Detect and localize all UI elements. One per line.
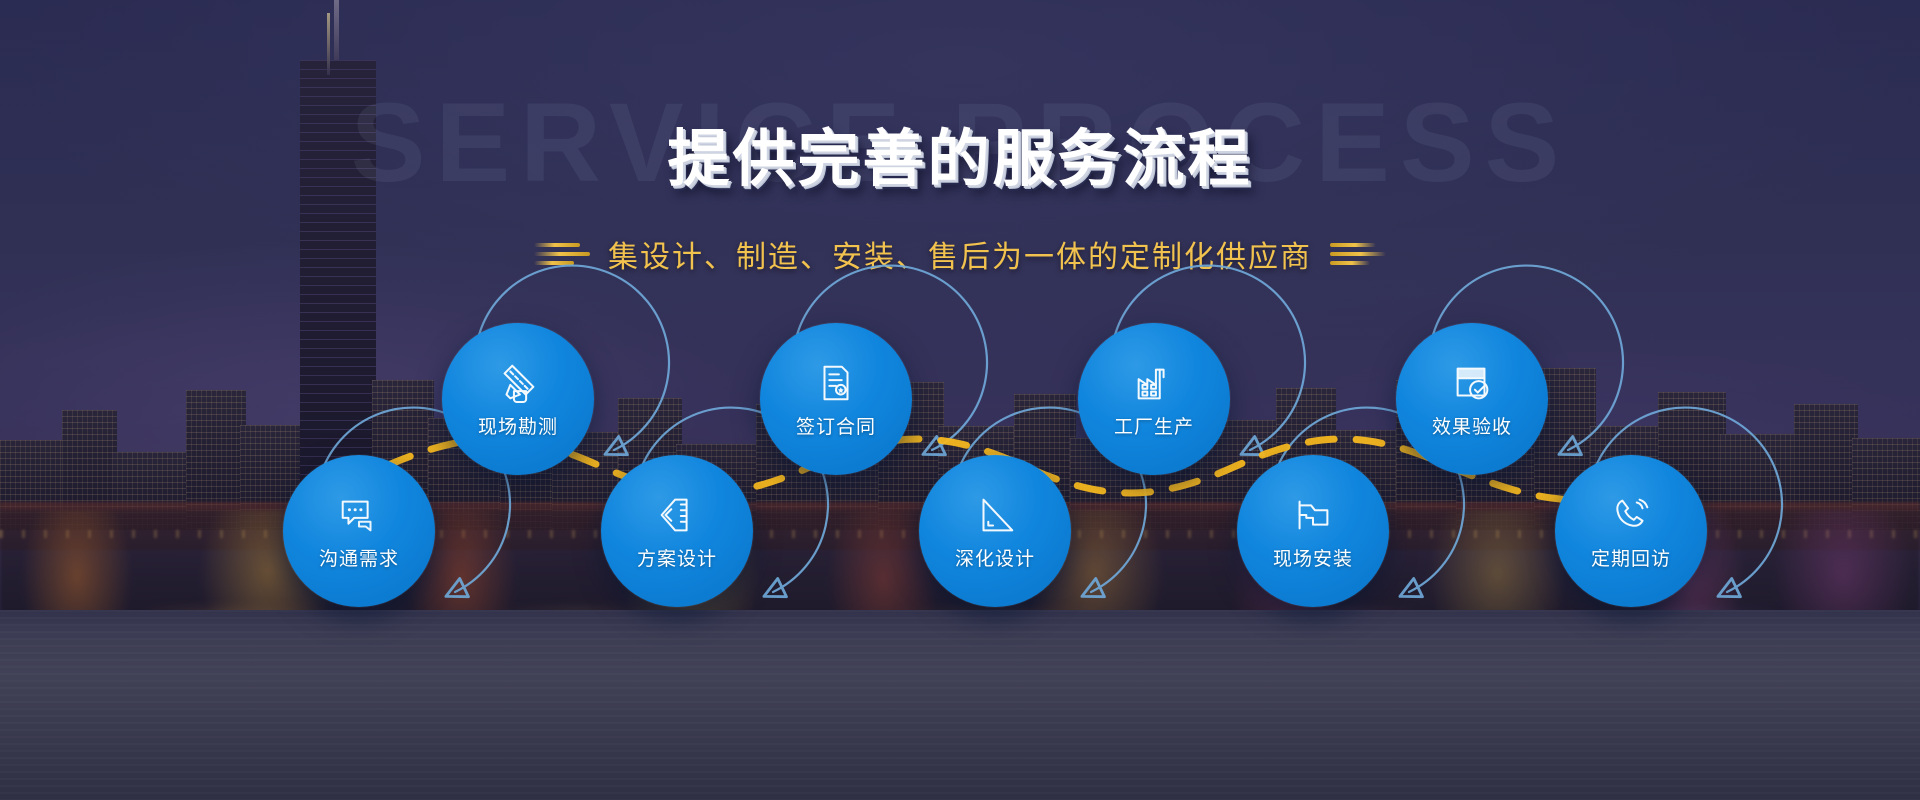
flow-step-7-label: 现场安装	[1273, 544, 1353, 571]
right-triangle-icon	[972, 492, 1018, 538]
flow-step-7[interactable]: 现场安装	[1237, 455, 1389, 607]
flow-step-2-label: 现场勘测	[478, 412, 558, 439]
process-flow-diagram: 沟通需求 现场勘测 方案设计	[0, 0, 1920, 800]
flow-step-9[interactable]: 定期回访	[1555, 455, 1707, 607]
flow-step-4[interactable]: 签订合同	[760, 323, 912, 475]
flow-step-6[interactable]: 工厂生产	[1078, 323, 1230, 475]
window-check-icon	[1449, 360, 1495, 406]
phone-call-icon	[1608, 492, 1654, 538]
service-process-banner: SERVICE PROCESS 提供完善的服务流程 集设计、制造、安装、售后为一…	[0, 0, 1920, 800]
flow-step-1[interactable]: 沟通需求	[283, 455, 435, 607]
power-drill-icon	[1290, 492, 1336, 538]
flow-step-8-label: 效果验收	[1432, 412, 1512, 439]
ruler-pencil-cross-icon	[495, 360, 541, 406]
flow-step-8[interactable]: 效果验收	[1396, 323, 1548, 475]
ruler-arrow-icon	[654, 492, 700, 538]
flow-step-5[interactable]: 深化设计	[919, 455, 1071, 607]
flow-step-2[interactable]: 现场勘测	[442, 323, 594, 475]
flow-step-5-label: 深化设计	[955, 544, 1035, 571]
contract-document-icon	[813, 360, 859, 406]
flow-step-9-label: 定期回访	[1591, 544, 1671, 571]
flow-step-1-label: 沟通需求	[319, 544, 399, 571]
flow-step-6-label: 工厂生产	[1114, 412, 1194, 439]
flow-step-3[interactable]: 方案设计	[601, 455, 753, 607]
factory-icon	[1131, 360, 1177, 406]
flow-connectors	[0, 0, 1920, 800]
flow-step-3-label: 方案设计	[637, 544, 717, 571]
flow-step-4-label: 签订合同	[796, 412, 876, 439]
chat-bubble-icon	[336, 492, 382, 538]
